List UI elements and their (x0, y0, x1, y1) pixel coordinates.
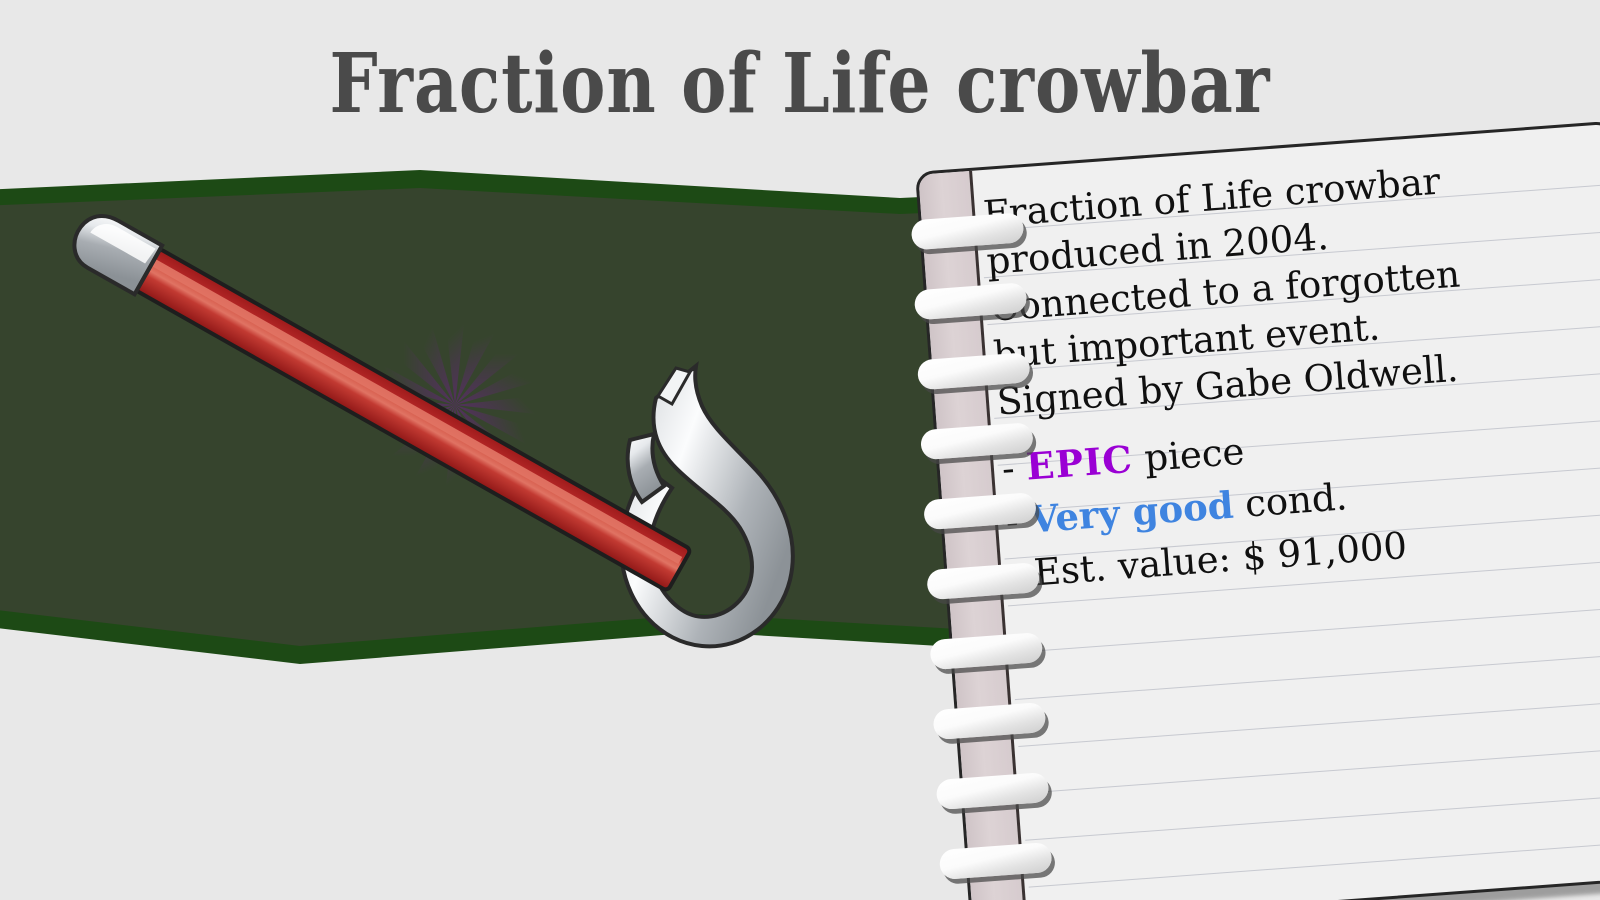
rule-line (1015, 654, 1600, 701)
rule-line (1022, 747, 1600, 794)
trading-card-scene: Fraction of Life crowbar (0, 0, 1600, 900)
notepad-content: Fraction of Life crowbar produced in 200… (982, 151, 1600, 609)
condition-badge: Very good (1028, 483, 1235, 542)
page-title: Fraction of Life crowbar (64, 36, 1536, 132)
rule-line (1018, 700, 1600, 747)
rule-line (1029, 841, 1600, 888)
notepad: Fraction of Life crowbar produced in 200… (915, 121, 1600, 900)
attribute-list: - EPIC piece - Very good cond. - Est. va… (1001, 405, 1600, 593)
rule-line (1025, 794, 1600, 841)
condition-label: cond. (1244, 475, 1349, 525)
rule-line (1011, 607, 1600, 654)
rarity-badge: EPIC (1025, 437, 1135, 489)
rarity-label: piece (1143, 430, 1246, 480)
